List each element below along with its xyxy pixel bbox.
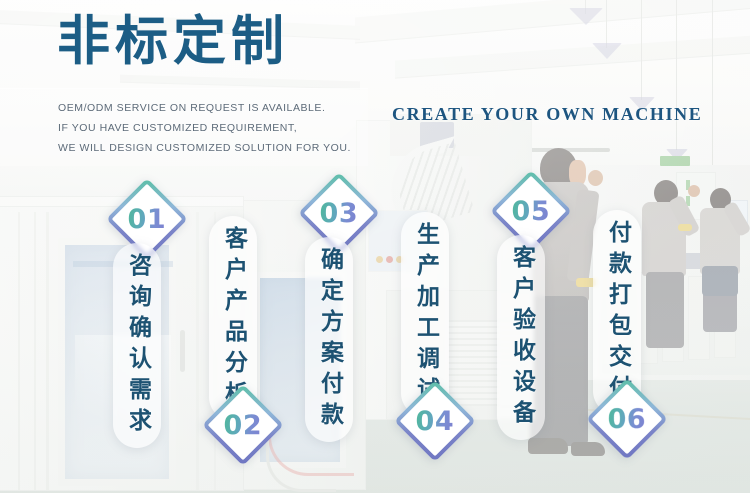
step-number-02: 02 — [224, 409, 263, 440]
banner-content: 非标定制 OEM/ODM SERVICE ON REQUEST IS AVAIL… — [0, 0, 750, 493]
process-step-01[interactable]: 01 咨询确认需求 — [95, 0, 205, 493]
step-number-05: 05 — [512, 195, 551, 226]
step-number-03: 03 — [320, 197, 359, 228]
process-step-04[interactable]: 生产加工调试 04 — [383, 0, 493, 493]
process-step-06[interactable]: 付款打包交付 06 — [575, 0, 685, 493]
step-number-01: 01 — [128, 203, 167, 234]
step-label-01: 咨询确认需求 — [126, 253, 149, 439]
process-step-05[interactable]: 05 客户验收设备 — [479, 0, 589, 493]
step-number-04: 04 — [416, 405, 455, 436]
step-pill-05[interactable]: 客户验收设备 — [497, 235, 545, 440]
step-label-02: 客户产品分析 — [222, 226, 245, 412]
step-label-06: 付款打包交付 — [606, 220, 629, 406]
step-label-04: 生产加工调试 — [414, 222, 437, 408]
process-steps: 01 咨询确认需求 客户产品分析 02 03 — [0, 0, 750, 493]
step-label-03: 确定方案付款 — [318, 247, 341, 433]
process-step-03[interactable]: 03 确定方案付款 — [287, 0, 397, 493]
step-number-06: 06 — [608, 403, 647, 434]
step-pill-03[interactable]: 确定方案付款 — [305, 237, 353, 442]
step-pill-01[interactable]: 咨询确认需求 — [113, 243, 161, 448]
promo-banner: 非标定制 OEM/ODM SERVICE ON REQUEST IS AVAIL… — [0, 0, 750, 493]
process-step-02[interactable]: 客户产品分析 02 — [191, 0, 301, 493]
step-label-05: 客户验收设备 — [510, 245, 533, 431]
